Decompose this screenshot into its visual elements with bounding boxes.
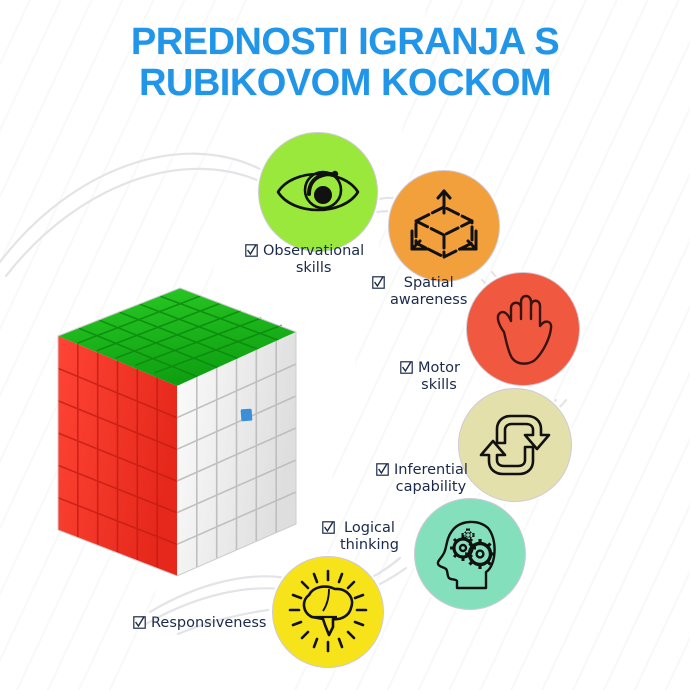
- checkbox-icon: [133, 616, 146, 634]
- label-text-line1: Observational: [263, 243, 364, 259]
- benefit-bubble-motor-skills[interactable]: [466, 272, 580, 386]
- label-text-line1: Spatial: [404, 275, 454, 291]
- label-text-line2: awareness: [390, 292, 467, 308]
- infographic-poster: PREDNOSTI IGRANJA S RUBIKOVOM KOCKOM: [0, 0, 690, 690]
- title-line-2: RUBIKOVOM KOCKOM: [0, 63, 690, 104]
- head-gears-icon: [430, 514, 510, 594]
- checkbox-icon: [372, 276, 385, 294]
- title-line-1: PREDNOSTI IGRANJA S: [0, 22, 690, 63]
- label-text-line2: skills: [296, 260, 332, 276]
- label-text-line2: capability: [396, 479, 467, 495]
- label-text-line1: Inferential: [394, 462, 468, 478]
- hand-icon: [490, 288, 556, 370]
- benefit-label-observational-skills: Observational skills: [245, 243, 364, 276]
- benefit-bubble-observational-skills[interactable]: [258, 132, 378, 252]
- page-title: PREDNOSTI IGRANJA S RUBIKOVOM KOCKOM: [0, 22, 690, 104]
- benefit-label-spatial-awareness: Spatial awareness: [372, 275, 467, 308]
- benefit-bubble-spatial-awareness[interactable]: [388, 170, 500, 282]
- benefit-label-motor-skills: Motor skills: [400, 360, 460, 393]
- cube-3d-icon: [408, 187, 480, 265]
- benefit-label-logical-thinking: Logical thinking: [322, 520, 399, 553]
- rubiks-cube-image: [52, 276, 302, 576]
- label-text-line2: skills: [421, 377, 457, 393]
- checkbox-icon: [400, 361, 413, 379]
- eye-icon: [275, 161, 361, 223]
- checkbox-icon: [245, 244, 258, 262]
- checkbox-icon: [322, 521, 335, 539]
- benefit-bubble-inferential-capability[interactable]: [458, 388, 572, 502]
- label-text-line1: Logical: [344, 520, 395, 536]
- label-text-line1: Responsiveness: [151, 615, 266, 631]
- benefit-label-inferential-capability: Inferential capability: [376, 462, 468, 495]
- benefit-label-responsiveness: Responsiveness: [133, 615, 266, 634]
- benefit-bubble-responsiveness[interactable]: [272, 556, 384, 668]
- label-text-line2: thinking: [340, 537, 399, 553]
- glowing-brain-icon: [285, 569, 371, 655]
- cycle-arrows-icon: [475, 409, 555, 481]
- checkbox-icon: [376, 463, 389, 481]
- label-text-line1: Motor: [418, 360, 460, 376]
- benefit-bubble-logical-thinking[interactable]: [414, 498, 526, 610]
